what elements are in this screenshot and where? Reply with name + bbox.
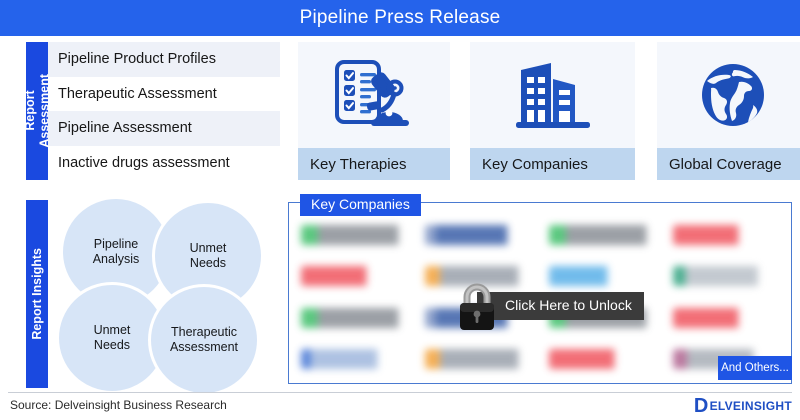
report-insights-venn: Pipeline Analysis Unmet Needs Unmet Need… (52, 196, 274, 388)
report-assessment-list: Pipeline Product Profiles Therapeutic As… (48, 42, 280, 180)
feature-card-key-therapies[interactable]: Key Therapies (298, 42, 450, 180)
company-logo (673, 308, 780, 328)
company-logo (301, 225, 408, 245)
footer-source-text: Source: Delveinsight Business Research (10, 398, 227, 412)
page-title: Pipeline Press Release (300, 7, 501, 29)
company-logo (301, 308, 408, 328)
and-others-badge[interactable]: And Others... (718, 356, 792, 380)
brand-wordmark: ELVEINSIGHT (710, 399, 792, 413)
venn-circle: Therapeutic Assessment (148, 284, 260, 396)
feature-card-label: Key Therapies (298, 148, 450, 180)
company-logo (549, 225, 656, 245)
company-logo (673, 225, 780, 245)
company-logo (549, 349, 656, 369)
company-logo (301, 349, 408, 369)
unlock-overlay[interactable]: Click Here to Unlock (455, 280, 644, 332)
list-item[interactable]: Therapeutic Assessment (48, 77, 280, 112)
list-item[interactable]: Pipeline Product Profiles (48, 42, 280, 77)
report-insights-side-label: Report Insights (26, 200, 48, 388)
report-assessment-side-label: Report Assessment (26, 42, 48, 180)
globe-icon (657, 42, 800, 148)
brand-initial: D (694, 396, 709, 416)
feature-card-label: Key Companies (470, 148, 635, 180)
clipboard-microscope-icon (298, 42, 450, 148)
company-logo (425, 225, 532, 245)
list-item[interactable]: Inactive drugs assessment (48, 146, 280, 181)
company-logo (425, 349, 532, 369)
company-logo (301, 266, 408, 286)
padlock-icon (455, 280, 499, 332)
page-header: Pipeline Press Release (0, 0, 800, 36)
feature-card-key-companies[interactable]: Key Companies (470, 42, 635, 180)
company-logo (673, 266, 780, 286)
footer-divider (8, 392, 792, 393)
unlock-tooltip-label: Click Here to Unlock (477, 292, 644, 320)
office-buildings-icon (470, 42, 635, 148)
list-item[interactable]: Pipeline Assessment (48, 111, 280, 146)
delveinsight-logo: D ELVEINSIGHT (694, 396, 792, 416)
feature-card-global-coverage[interactable]: Global Coverage (657, 42, 800, 180)
feature-card-label: Global Coverage (657, 148, 800, 180)
